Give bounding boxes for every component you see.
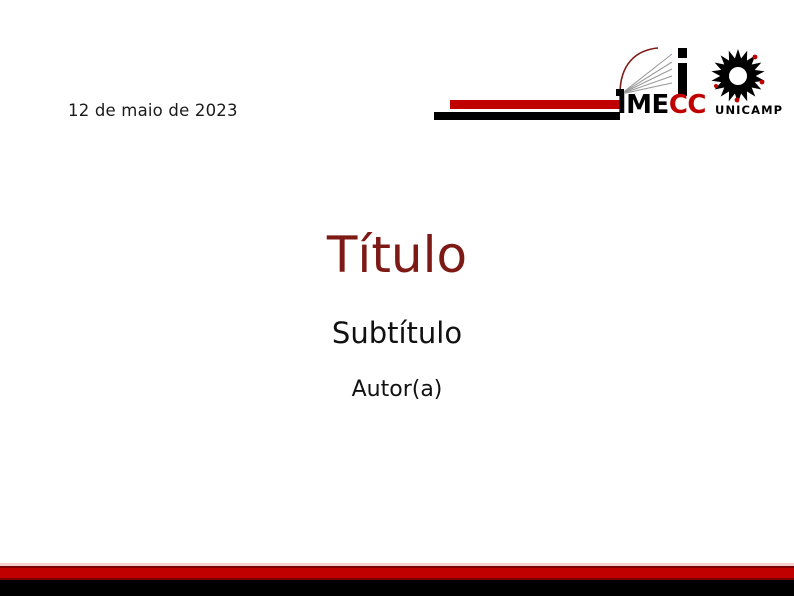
imecc-wordmark: IMECC: [617, 92, 706, 118]
logo-rule-black-icon: [434, 112, 620, 120]
gear-dot-ne-icon: [753, 55, 758, 60]
gear-dot-s-icon: [735, 98, 740, 103]
gear-hub-icon: [729, 67, 747, 85]
imecc-unicamp-logo: IMECC UNICAMP: [432, 42, 762, 126]
unicamp-gear-mark: [704, 46, 776, 108]
footer-black-bar: [0, 580, 794, 596]
imecc-cc-text: CC: [669, 90, 706, 120]
fan-rays-icon: [614, 44, 704, 96]
logo-rule-red-icon: [450, 100, 622, 109]
presentation-slide: 12 de maio de 2023: [0, 0, 794, 596]
gear-dot-e-icon: [760, 80, 765, 85]
letter-i-dot-icon: [678, 48, 687, 58]
unicamp-wordmark: UNICAMP: [715, 103, 783, 117]
author-name: Autor(a): [0, 378, 794, 402]
footer-red-bar: [0, 566, 794, 580]
gear-dot-w-icon: [714, 84, 718, 88]
title-block: Título Subtítulo Autor(a): [0, 228, 794, 402]
unicamp-gear-icon: [704, 46, 776, 108]
page-title: Título: [0, 228, 794, 282]
ray-group-icon: [621, 54, 672, 94]
slide-date: 12 de maio de 2023: [68, 101, 238, 120]
imecc-ime-text: IME: [617, 90, 669, 120]
page-subtitle: Subtítulo: [0, 318, 794, 350]
imecc-rays-mark: [614, 44, 704, 96]
